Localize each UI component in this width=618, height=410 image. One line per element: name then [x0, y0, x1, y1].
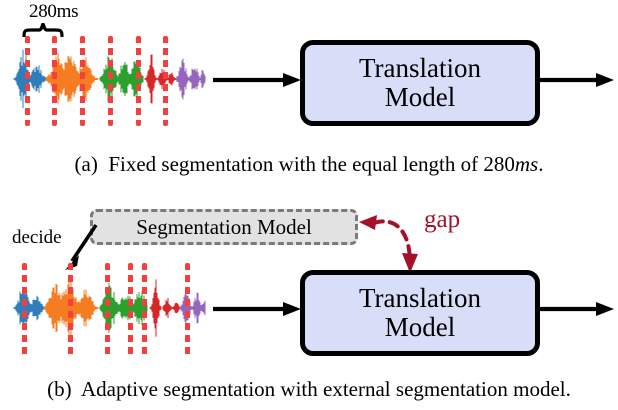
caption-a-text: Fixed segmentation with the equal length…	[108, 152, 515, 176]
segment-boundary-line-2	[68, 263, 73, 355]
caption-b-text: Adaptive segmentation with external segm…	[81, 377, 571, 401]
panel-fixed-segmentation: 280ms Translation Model (a) Fixed segmen	[0, 0, 618, 185]
output-arrow-a	[540, 72, 616, 93]
translation-model-box-a[interactable]: Translation Model	[300, 40, 540, 126]
gap-label: gap	[424, 206, 460, 234]
segment-boundary-line-4	[128, 263, 133, 355]
output-arrow-b	[540, 301, 616, 322]
panel-adaptive-segmentation: Segmentation Model decide gap Tran	[0, 195, 618, 410]
segment-boundary-line-2	[52, 36, 57, 126]
translation-model-line2: Model	[385, 83, 456, 112]
segmentation-model-box[interactable]: Segmentation Model	[90, 209, 358, 245]
brace-duration-label: 280ms	[29, 1, 78, 23]
caption-b-prefix: (b)	[47, 377, 72, 401]
caption-a-suffix: .	[538, 152, 543, 176]
translation-model-box-b[interactable]: Translation Model	[300, 270, 540, 356]
segment-boundary-line-5	[136, 36, 141, 126]
decide-label: decide	[12, 227, 62, 249]
segment-boundary-line-1	[22, 263, 27, 355]
segment-boundary-line-1	[25, 36, 30, 126]
segment-boundary-line-5	[142, 263, 147, 355]
segmentation-model-label: Segmentation Model	[136, 215, 312, 240]
segment-boundary-line-4	[108, 36, 113, 126]
caption-a-italic: ms	[515, 152, 538, 176]
translation-model-line2: Model	[385, 313, 456, 342]
segment-boundary-line-3	[105, 263, 110, 355]
translation-model-line1: Translation	[359, 284, 481, 313]
translation-model-line1: Translation	[359, 54, 481, 83]
caption-a: (a) Fixed segmentation with the equal le…	[0, 152, 618, 177]
input-arrow-a	[213, 72, 303, 93]
input-arrow-b	[213, 301, 303, 322]
caption-b: (b) Adaptive segmentation with external …	[0, 377, 618, 402]
segment-boundary-line-3	[80, 36, 85, 126]
segment-boundary-line-6	[163, 36, 168, 126]
caption-a-prefix: (a)	[75, 152, 98, 176]
segment-boundary-line-6	[185, 263, 190, 355]
